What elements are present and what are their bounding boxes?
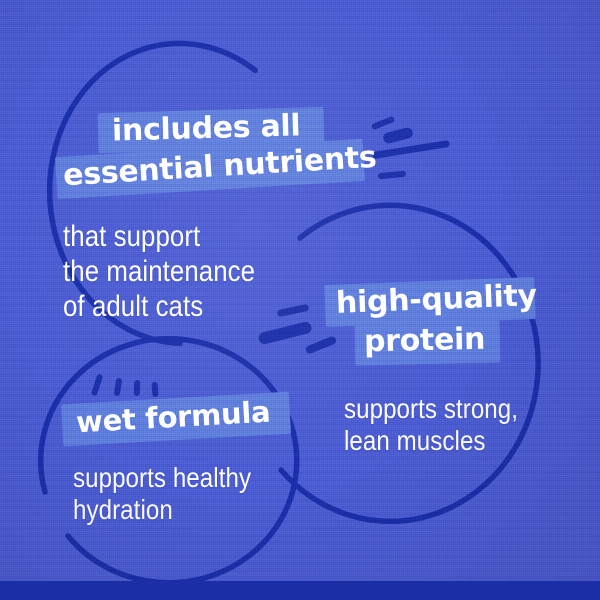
headline-includes-all: includes all <box>112 111 301 146</box>
body-essential-nutrients: that support the maintenance of adult ca… <box>63 220 255 324</box>
circle-bottom-left-arc <box>41 339 297 583</box>
headline-high-quality: high-quality <box>335 281 537 319</box>
body-wet-formula: supports healthy hydration <box>73 462 251 527</box>
bottom-bar <box>0 581 600 600</box>
tick-mark <box>134 380 141 396</box>
promo-graphic: includes all essential nutrients that su… <box>0 0 600 600</box>
headline-protein: protein <box>364 325 486 358</box>
body-high-quality-protein: supports strong, lean muscles <box>344 393 518 458</box>
tick-mark <box>151 382 158 397</box>
